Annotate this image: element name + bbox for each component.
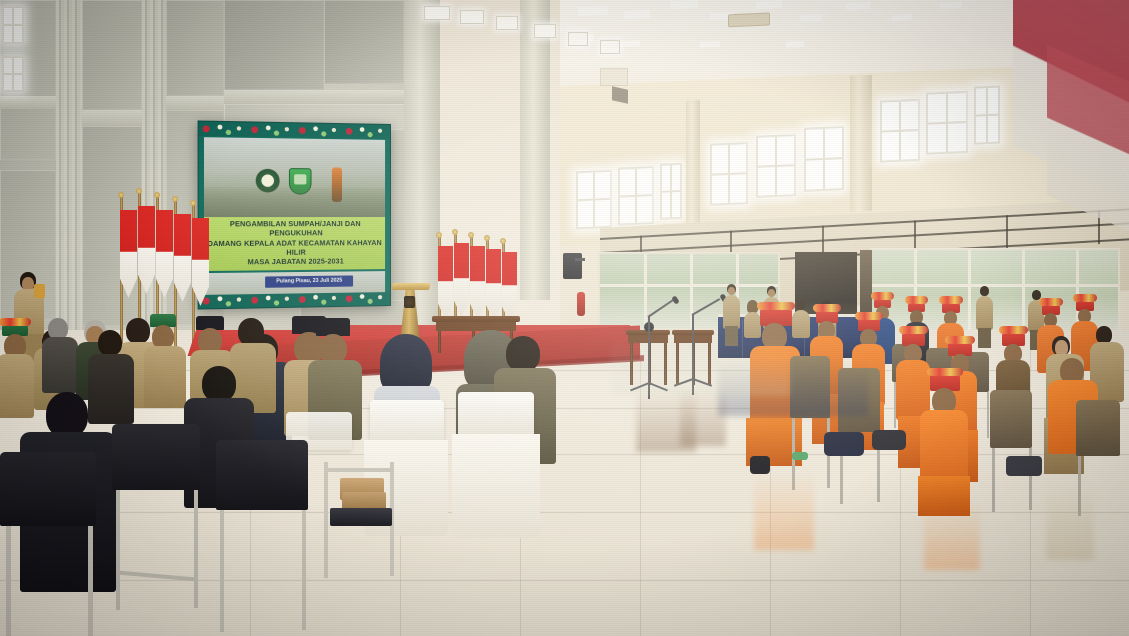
- chair-cover-2: [458, 392, 534, 438]
- bag-floor-3: [1006, 456, 1042, 476]
- bag-floor-2: [872, 430, 906, 450]
- ceremony-photograph: PENGAMBILAN SUMPAH/JANJI DAN PENGUKUHAN …: [0, 0, 1129, 636]
- led-banner-screen: PENGAMBILAN SUMPAH/JANJI DAN PENGUKUHAN …: [198, 120, 391, 309]
- batik-border-top: [199, 122, 390, 139]
- bag-floor-1: [824, 432, 864, 456]
- banner-photo-background: [204, 137, 385, 222]
- banner-date-text: Pulang Pisau, 23 Juli 2025: [265, 275, 353, 287]
- lectern-top: [391, 283, 430, 290]
- fire-extinguisher-icon: [577, 292, 585, 316]
- banner-title-line-2: DAMANG KEPALA ADAT KECAMATAN KAHAYAN HIL…: [207, 239, 382, 259]
- column-mid: [520, 0, 550, 300]
- banner-title-line-1: PENGAMBILAN SUMPAH/JANJI DAN PENGUKUHAN: [207, 220, 382, 240]
- chair-skirt-2: [452, 434, 540, 538]
- chair-cover-1: [370, 400, 444, 444]
- wall-vent: [600, 68, 628, 86]
- banner-title-text: PENGAMBILAN SUMPAH/JANJI DAN PENGUKUHAN …: [207, 220, 382, 269]
- phone-icon[interactable]: [34, 284, 45, 298]
- banner-title-line-3: MASA JABATAN 2025-2031: [207, 258, 382, 269]
- speaker-bracket: [575, 258, 585, 261]
- wall-speaker-icon: [563, 253, 582, 279]
- banner-title-band: PENGAMBILAN SUMPAH/JANJI DAN PENGUKUHAN …: [204, 217, 385, 271]
- equipment-case: [330, 508, 392, 526]
- regency-crest-icon: [289, 168, 312, 195]
- window-upper-left-2: [2, 56, 24, 92]
- banner-figure: [332, 167, 342, 201]
- district-seal-icon: [256, 169, 280, 193]
- window-upper-left: [2, 6, 24, 44]
- bottle-floor: [792, 452, 808, 460]
- garuda-crest-icon: [404, 296, 415, 308]
